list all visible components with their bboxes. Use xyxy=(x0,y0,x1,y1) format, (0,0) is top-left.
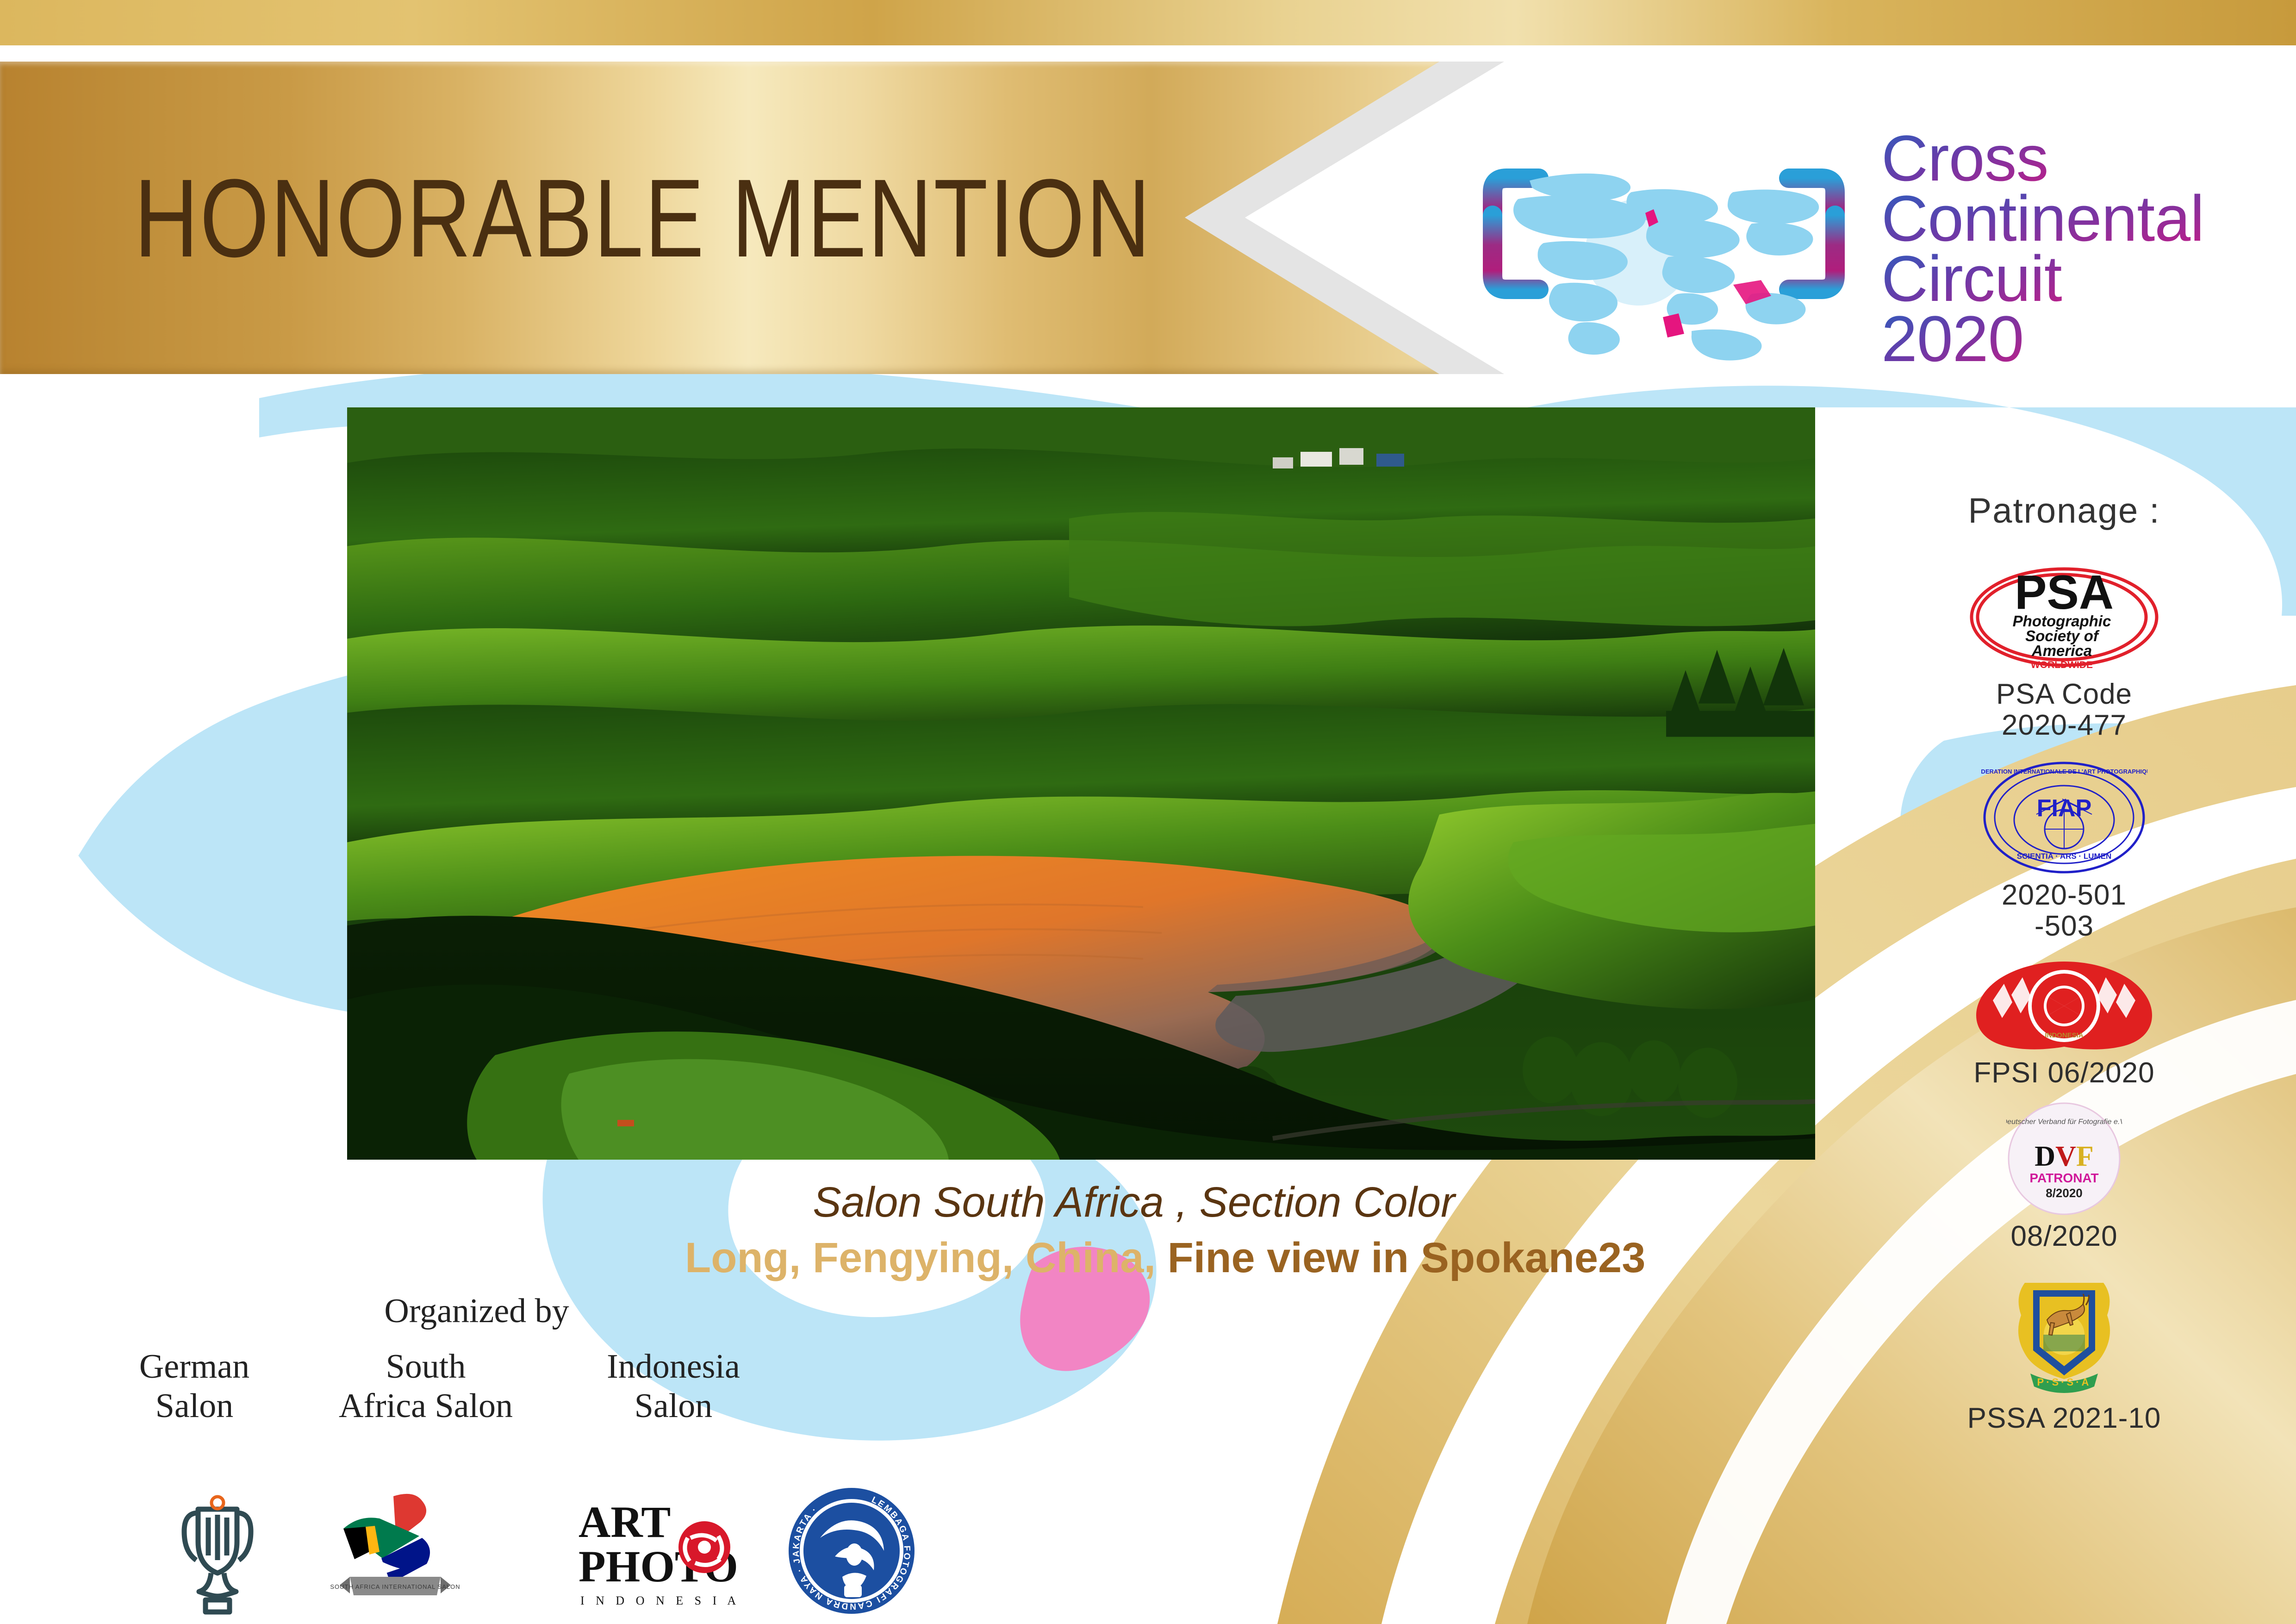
patronage-item-psa: PSA Photographic Society of America WORL… xyxy=(1916,559,2212,741)
svg-text:P·S·S·A: P·S·S·A xyxy=(2037,1376,2091,1388)
svg-text:ART: ART xyxy=(579,1497,671,1547)
patronage-item-fpsi: INDONESIA FPSI 06/2020 xyxy=(1916,956,2212,1089)
svg-text:PATRONAT: PATRONAT xyxy=(2029,1171,2098,1185)
psa-logo: PSA Photographic Society of America WORL… xyxy=(1962,559,2166,675)
svg-text:Deutscher Verband für Fotograf: Deutscher Verband für Fotografie e.V. xyxy=(2006,1118,2122,1126)
fiap-acronym: FIAP xyxy=(2037,795,2091,822)
caption-author: Long, Fengying, China, xyxy=(685,1234,1156,1281)
svg-text:8/2020: 8/2020 xyxy=(2046,1186,2083,1200)
svg-text:INDONESIA: INDONESIA xyxy=(2045,1031,2084,1039)
patronage-item-fiap: FIAP SCIENTIA · ARS · LUMEN FEDERATION I… xyxy=(1916,760,2212,942)
top-gold-bar xyxy=(0,0,2296,45)
pssa-logo: P·S·S·A xyxy=(1997,1264,2131,1399)
organizer-label-south-africa: South Africa Salon xyxy=(315,1347,537,1426)
organizer-logo-row: SOUTH AFRICA INTERNATIONAL SALON ART PHO… xyxy=(83,1486,940,1616)
organizers-block: Organized by German Salon South Africa S… xyxy=(83,1292,940,1616)
south-africa-flag-icon: SOUTH AFRICA INTERNATIONAL SALON xyxy=(324,1486,467,1616)
organizer-label-german: German Salon xyxy=(111,1347,278,1426)
svg-text:SOUTH AFRICA INTERNATIONAL SAL: SOUTH AFRICA INTERNATIONAL SALON xyxy=(330,1583,460,1590)
fiap-logo: FIAP SCIENTIA · ARS · LUMEN FEDERATION I… xyxy=(1981,760,2147,875)
art-photo-indonesia-logo: ART PHOTO I N D O N E S I A xyxy=(574,1495,759,1613)
organizer-label-indonesia: Indonesia Salon xyxy=(574,1347,773,1426)
caption-salon-section: Salon South Africa , Section Color xyxy=(694,1178,1574,1227)
award-title: HONORABLE MENTION xyxy=(134,162,1152,274)
south-africa-salon-logo: SOUTH AFRICA INTERNATIONAL SALON xyxy=(324,1486,467,1618)
organized-by-label: Organized by xyxy=(380,1292,574,1331)
patronage-column: Patronage : PSA Photographic Society of … xyxy=(1916,491,2212,1445)
organizer-column-south-africa: South Africa Salon xyxy=(315,1347,537,1426)
svg-text:SCIENTIA · ARS · LUMEN: SCIENTIA · ARS · LUMEN xyxy=(2017,852,2112,861)
lembaga-fotografi-candra-naya-icon: LEMBAGA FOTOGRAFI CANDRA NAYA · JAKARTA … xyxy=(787,1486,916,1616)
german-salon-trophy-icon xyxy=(171,1491,264,1616)
svg-text:I N D O N E S I A: I N D O N E S I A xyxy=(580,1594,740,1607)
patronage-item-pssa: P·S·S·A PSSA 2021-10 xyxy=(1916,1264,2212,1434)
pssa-code: PSSA 2021-10 xyxy=(1916,1403,2212,1434)
art-photo-indonesia-icon: ART PHOTO I N D O N E S I A xyxy=(574,1495,759,1611)
psa-code: PSA Code 2020-477 xyxy=(1916,679,2212,741)
svg-text:DVF: DVF xyxy=(2035,1141,2093,1172)
dvf-code: 08/2020 xyxy=(1916,1221,2212,1252)
svg-text:FEDERATION INTERNATIONALE DE L: FEDERATION INTERNATIONALE DE L'ART PHOTO… xyxy=(1981,768,2147,775)
fpsi-code: FPSI 06/2020 xyxy=(1916,1058,2212,1089)
fpsi-logo: INDONESIA xyxy=(1972,956,2157,1053)
lembaga-fotografi-candra-naya-logo: LEMBAGA FOTOGRAFI CANDRA NAYA · JAKARTA … xyxy=(787,1486,916,1618)
brand-line-4: 2020 xyxy=(1881,302,2023,363)
patronage-item-dvf: Deutscher Verband für Fotografie e.V. DV… xyxy=(1916,1101,2212,1252)
awarded-photograph xyxy=(347,407,1815,1160)
award-banner: HONORABLE MENTION xyxy=(0,62,1509,374)
fiap-code: 2020-501 -503 xyxy=(1916,880,2212,942)
svg-text:WORLDWIDE: WORLDWIDE xyxy=(2031,660,2093,670)
cross-continental-circuit-logo: Cross Continental Circuit 2020 xyxy=(1474,100,2242,363)
dvf-logo: Deutscher Verband für Fotografie e.V. DV… xyxy=(2006,1101,2122,1217)
caption-author-title: Long, Fengying, China, Fine view in Spok… xyxy=(685,1234,1583,1282)
patronage-heading: Patronage : xyxy=(1916,491,2212,531)
organizer-column-german: German Salon xyxy=(111,1347,278,1426)
caption-photo-title: Fine view in Spokane23 xyxy=(1168,1234,1646,1281)
german-salon-logo xyxy=(171,1491,264,1618)
svg-text:America: America xyxy=(2031,642,2092,659)
organizer-column-indonesia: Indonesia Salon xyxy=(574,1347,773,1426)
psa-acronym: PSA xyxy=(2015,566,2114,619)
